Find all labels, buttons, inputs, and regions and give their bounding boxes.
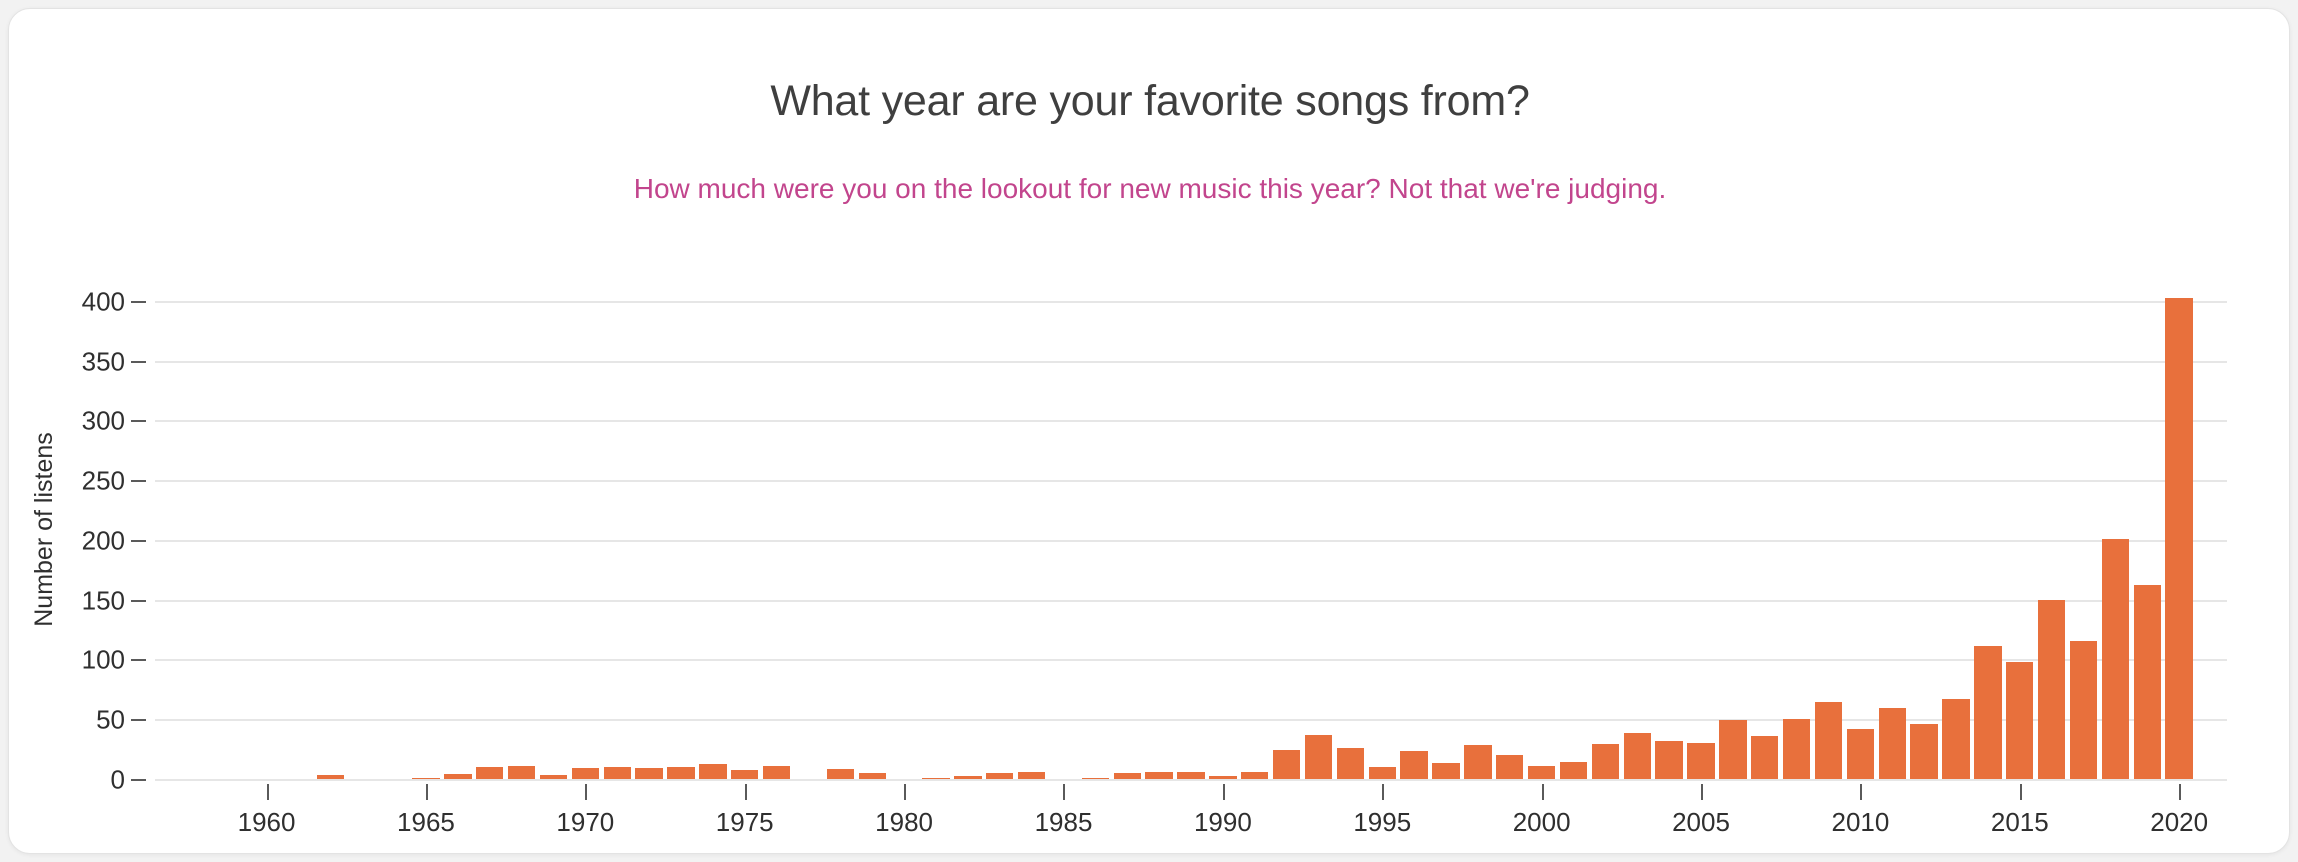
y-tick-mark [131, 540, 146, 542]
y-tick-label: 400 [15, 286, 125, 317]
x-tick-mark [267, 784, 269, 800]
y-tick-label: 50 [15, 705, 125, 736]
bar[interactable] [1496, 755, 1523, 780]
bar[interactable] [1751, 736, 1778, 780]
y-tick-mark [131, 659, 146, 661]
y-tick-label: 100 [15, 645, 125, 676]
x-tick-mark [2020, 784, 2022, 800]
x-tick-mark [1542, 784, 1544, 800]
y-tick-mark [131, 779, 146, 781]
x-tick-mark [1860, 784, 1862, 800]
gridline [155, 420, 2227, 422]
y-tick-mark [131, 361, 146, 363]
x-tick-label: 1980 [875, 807, 933, 838]
x-tick-label: 2005 [1672, 807, 1730, 838]
bar[interactable] [1400, 751, 1427, 780]
x-tick-mark [2179, 784, 2181, 800]
bar[interactable] [1942, 699, 1969, 780]
y-tick-label: 200 [15, 525, 125, 556]
bar[interactable] [2070, 641, 2097, 780]
bar[interactable] [1305, 735, 1332, 780]
y-tick-label: 300 [15, 406, 125, 437]
x-tick-label: 2020 [2150, 807, 2208, 838]
x-tick-mark [1382, 784, 1384, 800]
bar[interactable] [1624, 733, 1651, 780]
x-tick-label: 2000 [1513, 807, 1571, 838]
x-tick-label: 2015 [1991, 807, 2049, 838]
gridline [155, 301, 2227, 303]
bar[interactable] [1687, 743, 1714, 780]
chart-subtitle: How much were you on the lookout for new… [9, 173, 2290, 205]
bar[interactable] [699, 764, 726, 780]
y-tick-label: 0 [15, 765, 125, 796]
x-tick-label: 1975 [716, 807, 774, 838]
x-tick-mark [1063, 784, 1065, 800]
bar[interactable] [1783, 719, 1810, 780]
gridline [155, 480, 2227, 482]
bar[interactable] [1528, 766, 1555, 780]
bar[interactable] [1273, 750, 1300, 780]
x-tick-label: 1965 [397, 807, 455, 838]
x-tick-label: 1970 [556, 807, 614, 838]
y-tick-mark [131, 301, 146, 303]
x-tick-label: 1985 [1035, 807, 1093, 838]
gridline [155, 719, 2227, 721]
bar[interactable] [763, 766, 790, 780]
x-tick-label: 1960 [238, 807, 296, 838]
x-tick-mark [1701, 784, 1703, 800]
x-tick-label: 1990 [1194, 807, 1252, 838]
bar[interactable] [2102, 539, 2129, 780]
bar[interactable] [508, 766, 535, 780]
bar[interactable] [1879, 708, 1906, 780]
x-tick-mark [426, 784, 428, 800]
y-tick-mark [131, 719, 146, 721]
bar[interactable] [1974, 646, 2001, 780]
page-title: What year are your favorite songs from? [9, 77, 2290, 126]
y-tick-mark [131, 480, 146, 482]
bar[interactable] [1655, 741, 1682, 780]
bar[interactable] [1560, 762, 1587, 780]
bar[interactable] [1337, 748, 1364, 780]
bar[interactable] [1910, 724, 1937, 780]
x-axis-line [155, 779, 2227, 781]
chart-card: What year are your favorite songs from? … [8, 8, 2290, 854]
bar[interactable] [1847, 729, 1874, 780]
bar[interactable] [2134, 585, 2161, 780]
x-tick-label: 2010 [1831, 807, 1889, 838]
bar[interactable] [2165, 298, 2192, 780]
y-tick-label: 150 [15, 585, 125, 616]
x-tick-mark [904, 784, 906, 800]
bar[interactable] [1432, 763, 1459, 780]
x-tick-mark [745, 784, 747, 800]
bar[interactable] [1719, 720, 1746, 780]
x-tick-mark [585, 784, 587, 800]
gridline [155, 540, 2227, 542]
plot-area: 050100150200250300350400 [155, 278, 2227, 780]
bar[interactable] [1815, 702, 1842, 780]
x-tick-mark [1223, 784, 1225, 800]
y-tick-mark [131, 600, 146, 602]
y-tick-label: 250 [15, 466, 125, 497]
bar[interactable] [1592, 744, 1619, 780]
gridline [155, 361, 2227, 363]
y-tick-label: 350 [15, 346, 125, 377]
bar[interactable] [1464, 745, 1491, 780]
x-tick-label: 1995 [1353, 807, 1411, 838]
gridline [155, 659, 2227, 661]
bar[interactable] [2006, 662, 2033, 780]
gridline [155, 600, 2227, 602]
y-tick-mark [131, 420, 146, 422]
bar[interactable] [2038, 600, 2065, 780]
